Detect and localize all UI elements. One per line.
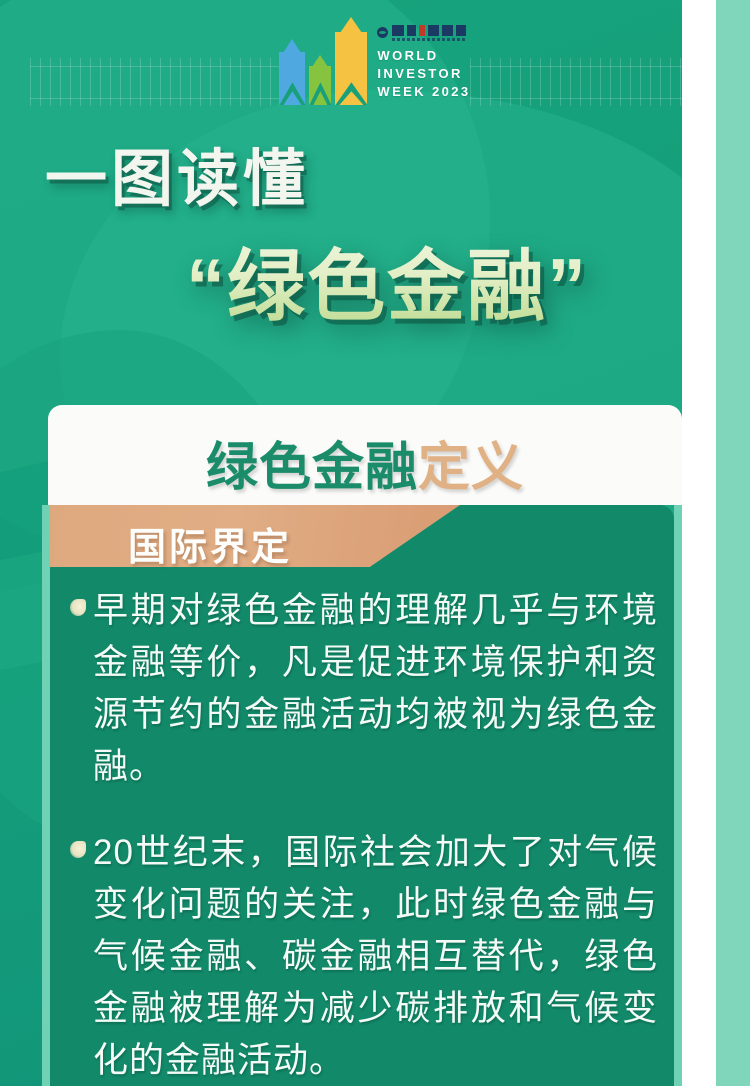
iosco-wordmark-icon <box>377 25 470 41</box>
pencil-yellow-icon <box>335 17 367 105</box>
paragraph-item: 20世纪末，国际社会加大了对气候变化问题的关注，此时绿色金融与气候金融、碳金融相… <box>70 827 658 1086</box>
panel-outer-gap <box>682 0 716 1086</box>
section-card: 绿色金融定义 <box>48 405 682 505</box>
bullet-dot-icon <box>70 841 86 858</box>
iosco-mark-subline <box>392 38 466 41</box>
infographic-poster: WORLD INVESTOR WEEK 2023 一图读懂 “绿色金融” 绿色金… <box>0 0 750 1086</box>
panel-outer-edge <box>716 0 750 1086</box>
headline-primary: 一图读懂 <box>45 128 309 218</box>
panel-copy: 早期对绿色金融的理解几乎与环境金融等价，凡是促进环境保护和资源节约的金融活动均被… <box>50 585 674 1086</box>
pencil-blue-icon <box>279 39 305 105</box>
section-title-tan: 定义 <box>418 439 524 497</box>
logo-line-investor: INVESTOR <box>377 65 470 82</box>
pencil-green-icon <box>309 55 331 105</box>
logo-line-world: WORLD <box>377 47 470 64</box>
panel-rail-right <box>674 505 682 1086</box>
globe-icon <box>377 27 388 38</box>
bullet-dot-icon <box>70 599 86 616</box>
headline-secondary: “绿色金融” <box>186 224 588 336</box>
paragraph-text: 早期对绿色金融的理解几乎与环境金融等价，凡是促进环境保护和资源节约的金融活动均被… <box>93 585 658 793</box>
world-investor-week-logo: WORLD INVESTOR WEEK 2023 <box>0 10 750 110</box>
iosco-mark-bars <box>392 25 466 36</box>
content-panel: 国际界定 早期对绿色金融的理解几乎与环境金融等价，凡是促进环境保护和资源节约的金… <box>50 505 674 1086</box>
logo-line-week-year: WEEK 2023 <box>377 83 470 100</box>
paragraph-item: 早期对绿色金融的理解几乎与环境金融等价，凡是促进环境保护和资源节约的金融活动均被… <box>70 585 658 793</box>
pencil-group-icon <box>279 15 367 105</box>
headline-block: 一图读懂 “绿色金融” <box>0 118 750 358</box>
paragraph-text: 20世纪末，国际社会加大了对气候变化问题的关注，此时绿色金融与气候金融、碳金融相… <box>93 827 658 1086</box>
section-ribbon-label: 国际界定 <box>128 516 292 571</box>
section-card-title: 绿色金融定义 <box>48 425 682 500</box>
section-title-green: 绿色金融 <box>206 439 418 497</box>
panel-rail-left <box>42 505 50 1086</box>
logo-text-block: WORLD INVESTOR WEEK 2023 <box>377 15 470 105</box>
